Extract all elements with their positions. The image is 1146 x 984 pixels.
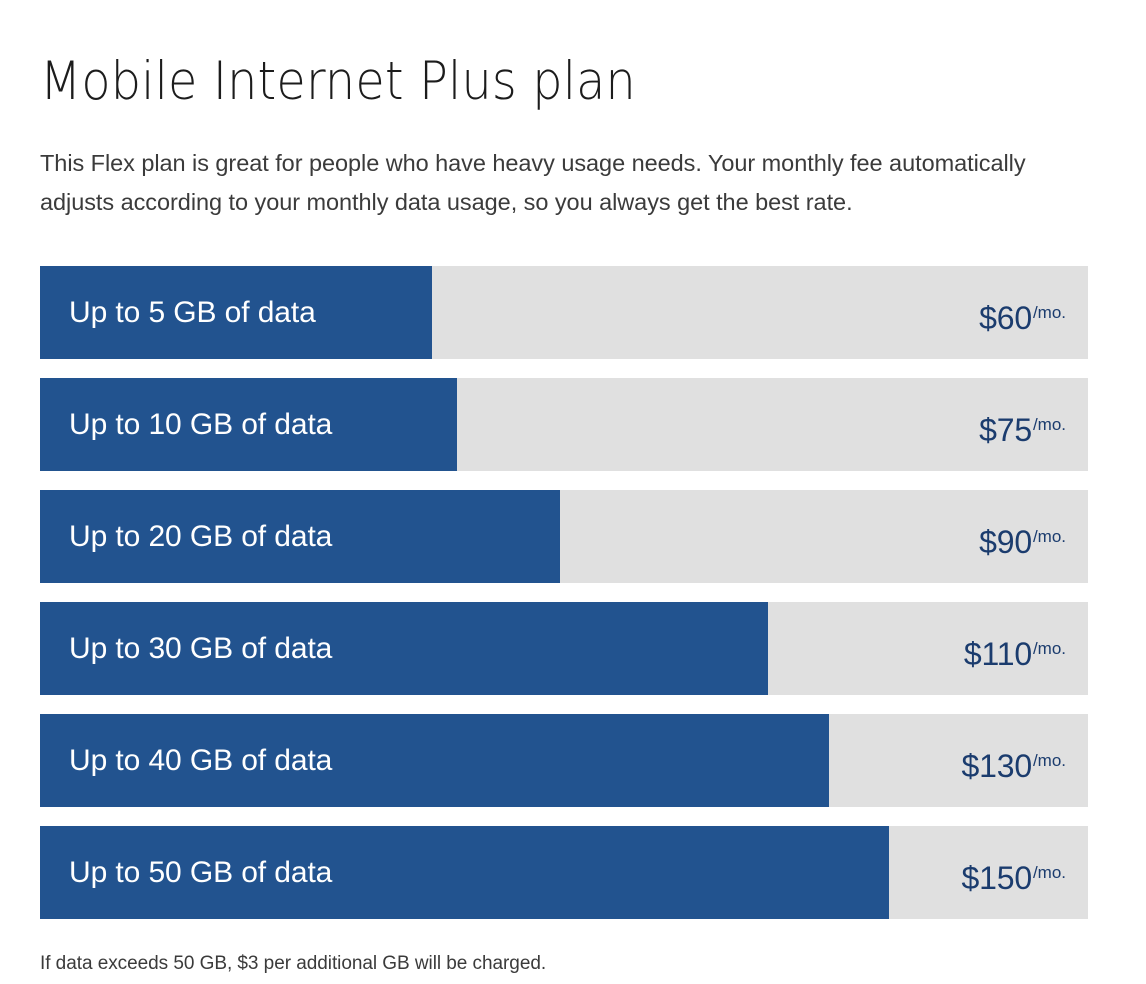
tier-price-period: /mo. [1033, 863, 1066, 882]
plan-page: Mobile Internet Plus plan This Flex plan… [0, 0, 1146, 984]
tier-row[interactable]: Up to 20 GB of data$90/mo. [40, 490, 1088, 583]
tier-price-period: /mo. [1033, 751, 1066, 770]
tier-price-amount: $110 [964, 636, 1032, 672]
tier-price: $60/mo. [979, 266, 1066, 359]
tier-label: Up to 10 GB of data [69, 378, 332, 471]
tier-label: Up to 30 GB of data [69, 602, 332, 695]
tier-price-period: /mo. [1033, 639, 1066, 658]
tier-row[interactable]: Up to 30 GB of data$110/mo. [40, 602, 1088, 695]
tier-label: Up to 40 GB of data [69, 714, 332, 807]
tier-row[interactable]: Up to 10 GB of data$75/mo. [40, 378, 1088, 471]
tier-label: Up to 20 GB of data [69, 490, 332, 583]
tier-price-amount: $130 [962, 748, 1032, 784]
tier-row[interactable]: Up to 5 GB of data$60/mo. [40, 266, 1088, 359]
page-title: Mobile Internet Plus plan [40, 50, 994, 115]
tier-price-period: /mo. [1033, 303, 1066, 322]
pricing-tier-list: Up to 5 GB of data$60/mo.Up to 10 GB of … [40, 266, 1088, 919]
tier-price: $150/mo. [962, 826, 1066, 919]
tier-price-period: /mo. [1033, 415, 1066, 434]
tier-price-amount: $150 [962, 860, 1032, 896]
tier-price: $110/mo. [964, 602, 1066, 695]
tier-price: $75/mo. [979, 378, 1066, 471]
overage-footnote: If data exceeds 50 GB, $3 per additional… [40, 951, 1070, 977]
tier-price-amount: $60 [979, 300, 1032, 336]
plan-description: This Flex plan is great for people who h… [40, 144, 1070, 222]
tier-row[interactable]: Up to 40 GB of data$130/mo. [40, 714, 1088, 807]
tier-price-amount: $90 [979, 524, 1032, 560]
tier-price: $130/mo. [962, 714, 1066, 807]
tier-price-amount: $75 [979, 412, 1032, 448]
tier-price: $90/mo. [979, 490, 1066, 583]
tier-price-period: /mo. [1033, 527, 1066, 546]
tier-row[interactable]: Up to 50 GB of data$150/mo. [40, 826, 1088, 919]
tier-label: Up to 50 GB of data [69, 826, 332, 919]
tier-label: Up to 5 GB of data [69, 266, 316, 359]
